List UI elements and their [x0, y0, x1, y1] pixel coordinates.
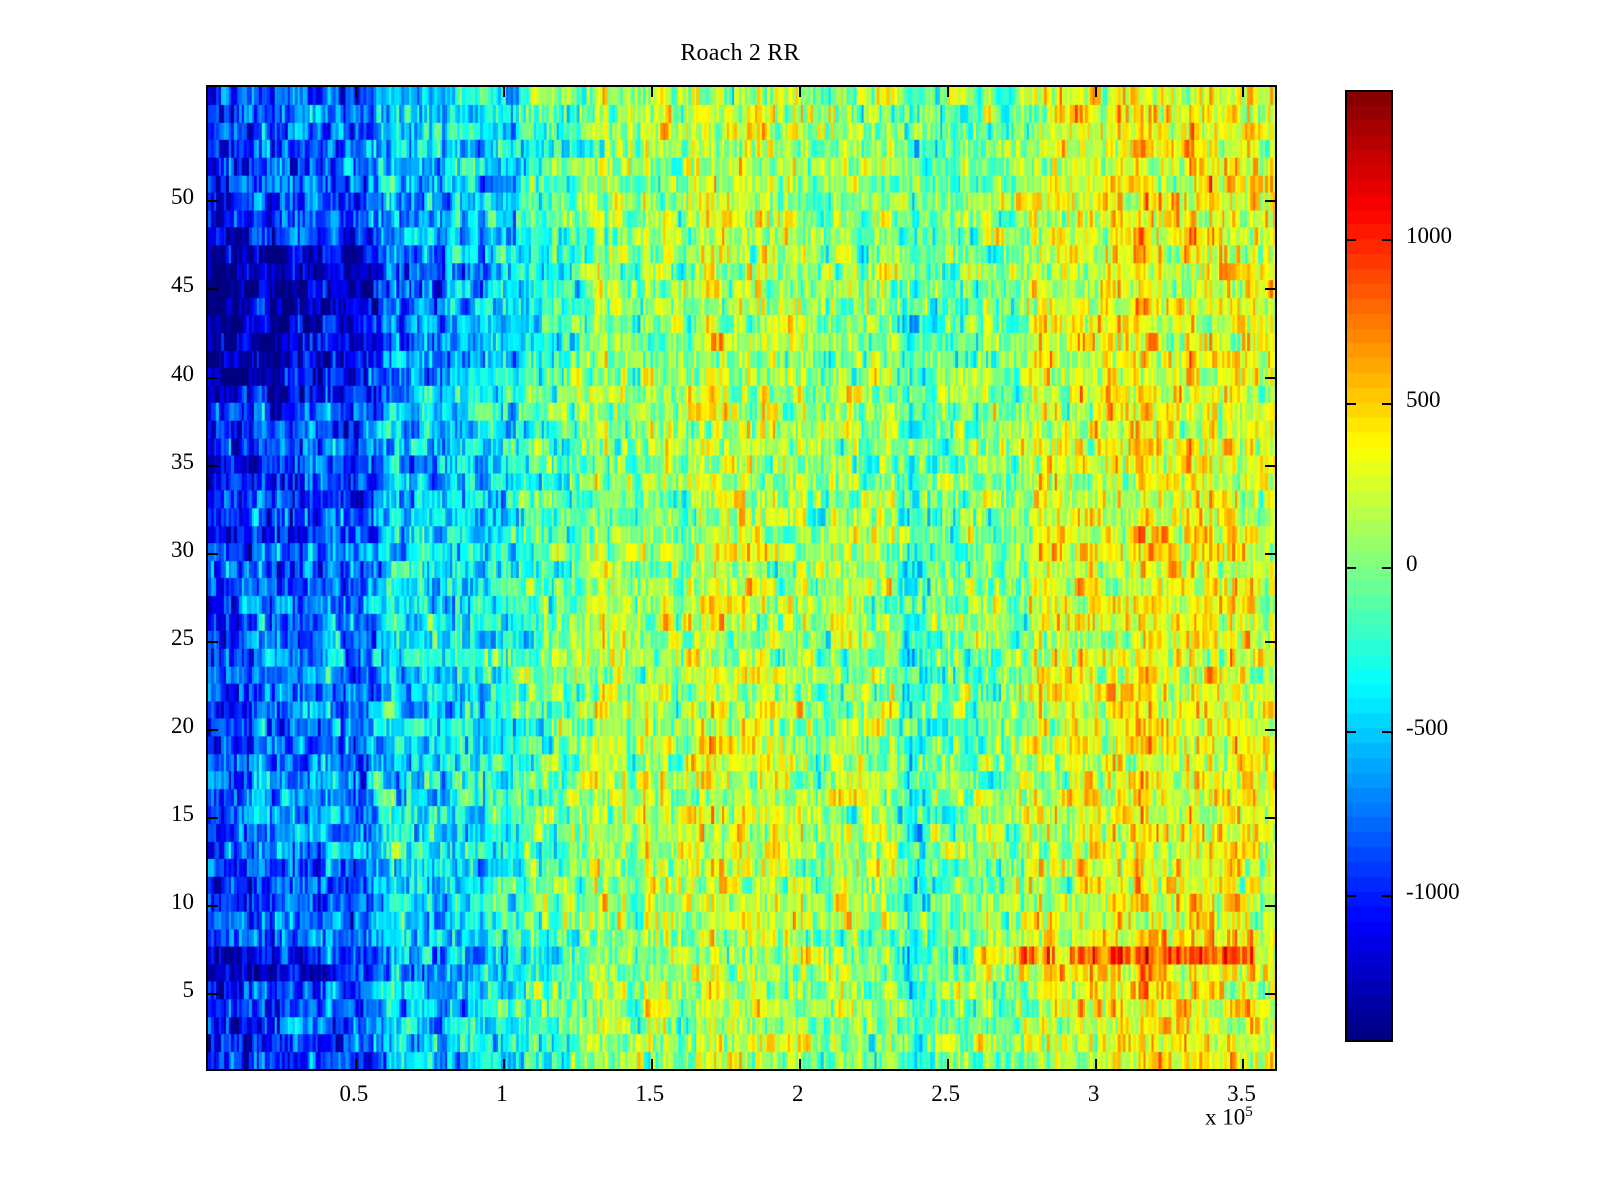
x-axis-tick-mark-top — [651, 87, 653, 97]
y-axis-tick-mark — [208, 200, 218, 202]
colorbar-tick-label: 500 — [1406, 387, 1441, 413]
y-axis-tick-mark — [208, 553, 218, 555]
y-axis-tick-label: 45 — [144, 272, 194, 298]
x-exponent-base: x 10 — [1205, 1105, 1245, 1130]
y-axis-tick-mark — [208, 377, 218, 379]
y-axis-tick-mark — [208, 288, 218, 290]
colorbar-tick-mark — [1347, 731, 1356, 733]
x-axis-tick-mark-top — [1095, 87, 1097, 97]
x-axis-tick-mark-top — [503, 87, 505, 97]
y-axis-tick-mark-right — [1265, 993, 1275, 995]
y-axis-tick-mark-right — [1265, 641, 1275, 643]
x-axis-exponent-label: x 105 — [1205, 1104, 1253, 1131]
y-axis-tick-label: 30 — [144, 537, 194, 563]
y-axis-tick-mark-right — [1265, 817, 1275, 819]
colorbar-tick-label: 0 — [1406, 551, 1418, 577]
colorbar-tick-mark-right — [1382, 567, 1391, 569]
colorbar-tick-label: -1000 — [1406, 879, 1460, 905]
x-axis-tick-mark-top — [799, 87, 801, 97]
colorbar-gradient — [1347, 92, 1391, 1040]
y-axis-tick-label: 5 — [144, 977, 194, 1003]
x-axis-tick-label: 2.5 — [906, 1081, 986, 1107]
x-axis-tick-mark-top — [355, 87, 357, 97]
y-axis-tick-mark-right — [1265, 905, 1275, 907]
x-axis-tick-mark — [947, 1059, 949, 1069]
x-axis-tick-label: 1 — [462, 1081, 542, 1107]
y-axis-tick-mark-right — [1265, 553, 1275, 555]
x-axis-tick-mark — [503, 1059, 505, 1069]
y-axis-tick-mark-right — [1265, 465, 1275, 467]
y-axis-tick-mark-right — [1265, 200, 1275, 202]
x-axis-tick-mark — [355, 1059, 357, 1069]
x-axis-tick-mark-top — [947, 87, 949, 97]
figure-canvas: Roach 2 RR 51015202530354045500.511.522.… — [0, 0, 1600, 1200]
x-axis-tick-label: 2 — [758, 1081, 838, 1107]
y-axis-tick-mark — [208, 817, 218, 819]
x-axis-tick-mark — [651, 1059, 653, 1069]
colorbar-tick-label: 1000 — [1406, 223, 1452, 249]
colorbar-tick-mark-right — [1382, 239, 1391, 241]
y-axis-tick-mark — [208, 905, 218, 907]
y-axis-tick-label: 20 — [144, 713, 194, 739]
x-exponent-power: 5 — [1245, 1104, 1253, 1120]
y-axis-tick-mark — [208, 641, 218, 643]
y-axis-tick-mark — [208, 465, 218, 467]
x-axis-tick-mark — [1242, 1059, 1244, 1069]
colorbar-tick-mark — [1347, 403, 1356, 405]
x-axis-tick-label: 0.5 — [314, 1081, 394, 1107]
y-axis-tick-label: 10 — [144, 889, 194, 915]
colorbar-tick-mark — [1347, 239, 1356, 241]
y-axis-tick-label: 50 — [144, 184, 194, 210]
x-axis-tick-mark — [1095, 1059, 1097, 1069]
heatmap-axes[interactable] — [206, 85, 1277, 1071]
x-axis-tick-label: 1.5 — [610, 1081, 690, 1107]
colorbar-tick-mark — [1347, 895, 1356, 897]
y-axis-tick-mark-right — [1265, 288, 1275, 290]
y-axis-tick-mark-right — [1265, 377, 1275, 379]
colorbar[interactable] — [1345, 90, 1393, 1042]
y-axis-tick-label: 25 — [144, 625, 194, 651]
y-axis-tick-mark — [208, 993, 218, 995]
y-axis-tick-label: 15 — [144, 801, 194, 827]
colorbar-tick-mark-right — [1382, 731, 1391, 733]
y-axis-tick-label: 40 — [144, 361, 194, 387]
colorbar-tick-mark — [1347, 567, 1356, 569]
colorbar-tick-mark-right — [1382, 895, 1391, 897]
colorbar-tick-mark-right — [1382, 403, 1391, 405]
y-axis-tick-label: 35 — [144, 449, 194, 475]
colorbar-tick-label: -500 — [1406, 715, 1448, 741]
x-axis-tick-label: 3 — [1054, 1081, 1134, 1107]
x-axis-tick-mark-top — [1242, 87, 1244, 97]
x-axis-tick-mark — [799, 1059, 801, 1069]
heatmap-image — [208, 87, 1275, 1069]
chart-title: Roach 2 RR — [0, 40, 1480, 67]
y-axis-tick-mark — [208, 729, 218, 731]
y-axis-tick-mark-right — [1265, 729, 1275, 731]
